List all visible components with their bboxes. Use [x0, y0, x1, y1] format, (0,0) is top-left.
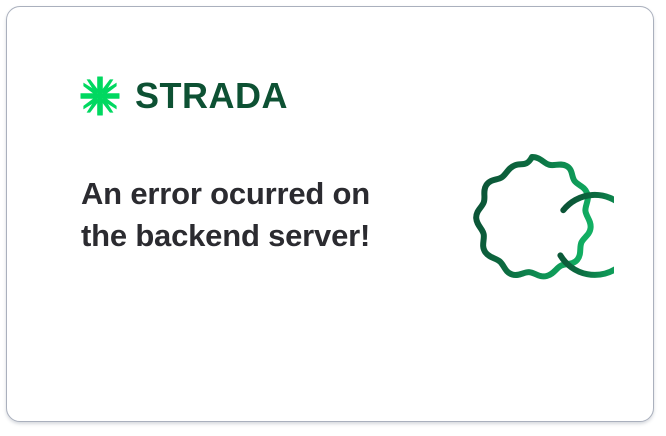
brand-lockup: STRADA — [79, 75, 288, 117]
error-card: STRADA An error ocurred on the backend s… — [6, 6, 654, 422]
gear-cog-icon — [450, 145, 614, 309]
brand-wordmark: STRADA — [135, 78, 288, 114]
error-headline: An error ocurred on the backend server! — [81, 173, 381, 257]
error-screen: STRADA An error ocurred on the backend s… — [0, 0, 666, 436]
strada-asterisk-icon — [79, 75, 121, 117]
